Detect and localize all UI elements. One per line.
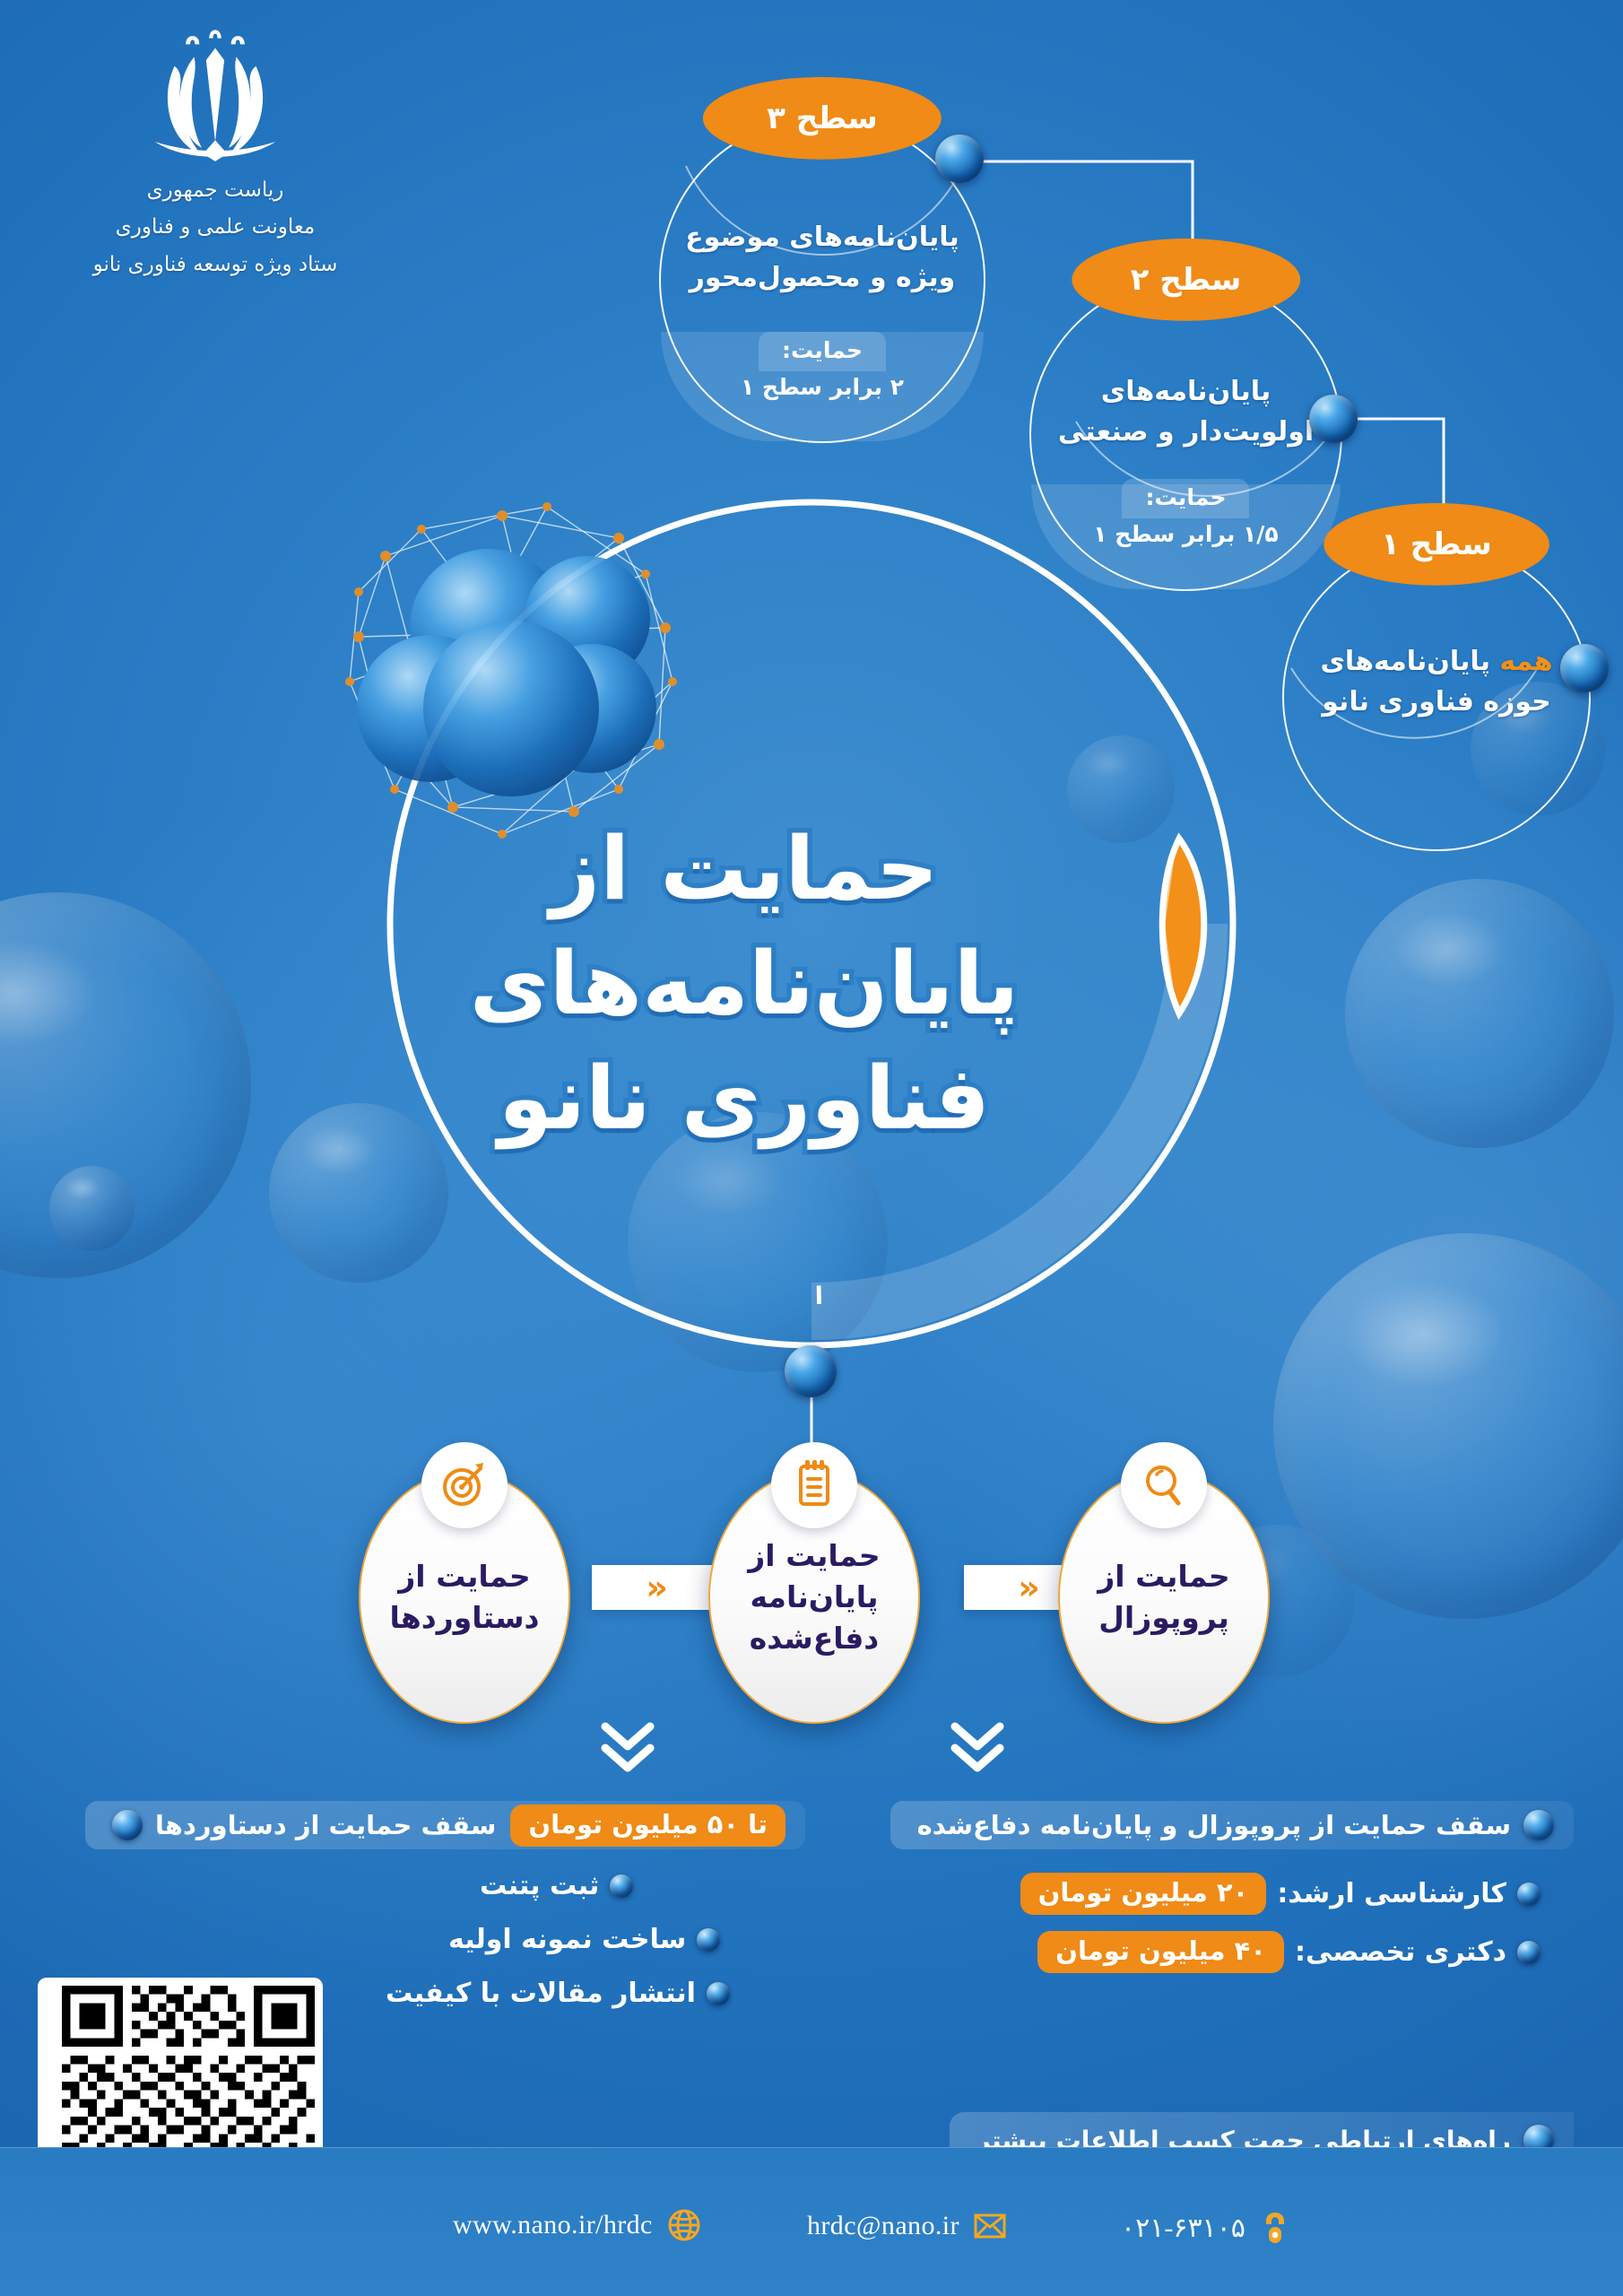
double-chevron-down-icon-left <box>596 1718 659 1782</box>
level-3-support-label: حمایت: <box>759 332 886 371</box>
bullet-marble-icon <box>1517 1883 1541 1906</box>
stage-achievements[interactable]: حمایت از دستاوردها <box>359 1471 570 1724</box>
level-2-text: پایان‌نامه‌های اولویت‌دار و صنعتی <box>1050 371 1323 452</box>
title-line-1: حمایت از <box>457 812 1031 926</box>
level-2-node <box>1309 395 1358 443</box>
caps-left-item-2-label: انتشار مقالات با کیفیت <box>386 1978 696 2009</box>
caps-left-item-2: انتشار مقالات با کیفیت <box>386 1978 730 2009</box>
org-line-2: معاونت علمی و فناوری <box>81 211 350 244</box>
level-3-support: حمایت: ۲ برابر سطح ۱ <box>699 332 945 404</box>
bullet-marble-icon <box>1517 1941 1541 1964</box>
phone-icon <box>1260 2211 1290 2245</box>
title-line-3: فناوری نانو <box>457 1041 1031 1156</box>
caps-right-row-0-label: کارشناسی ارشد: <box>1277 1878 1506 1909</box>
iran-emblem-icon <box>139 27 291 170</box>
background-bubble <box>0 892 251 1278</box>
magnifier-icon <box>1121 1442 1207 1528</box>
bullet-marble-icon <box>610 1874 633 1898</box>
level-1-node <box>1560 644 1609 692</box>
caps-right-row-1-amount: ۴۰ میلیون تومان <box>1037 1931 1284 1973</box>
caps-left-heading: سقف حمایت از دستاوردها <box>155 1810 496 1840</box>
level-2-badge: سطح ۲ <box>1072 239 1300 321</box>
stage-connector-left: « <box>592 1565 722 1610</box>
stage-proposal-label: حمایت از پروپوزال <box>1066 1556 1262 1639</box>
footer-email[interactable]: hrdc@nano.ir <box>807 2211 1006 2241</box>
bullet-marble-icon <box>697 1928 720 1952</box>
background-bubble <box>49 1166 135 1251</box>
background-bubble <box>1273 1233 1623 1619</box>
caps-left-item-0: ثبت پتنت <box>480 1870 633 1901</box>
stage-defended-thesis[interactable]: حمایت از پایان‌نامه دفاع‌شده <box>708 1471 920 1724</box>
caps-right-heading: سقف حمایت از پروپوزال و پایان‌نامه دفاع‌… <box>917 1810 1511 1840</box>
org-line-1: ریاست جمهوری <box>81 174 350 207</box>
chevron-left-icon: « <box>1018 1570 1040 1605</box>
page-title: حمایت از پایان‌نامه‌های فناوری نانو <box>457 812 1031 1156</box>
footer-website-text: www.nano.ir/hrdc <box>453 2210 653 2240</box>
level-2-circle: سطح ۲ پایان‌نامه‌های اولویت‌دار و صنعتی … <box>1029 278 1342 591</box>
footer-email-text: hrdc@nano.ir <box>807 2211 959 2241</box>
caps-right-row-0: کارشناسی ارشد: ۲۰ میلیون تومان <box>1020 1873 1541 1915</box>
caps-left-item-0-label: ثبت پتنت <box>480 1870 599 1901</box>
envelope-icon <box>974 2213 1006 2239</box>
footer-phone-text: ۰۲۱-۶۳۱۰۵ <box>1121 2213 1245 2244</box>
ring-marker-leaf <box>1162 839 1204 1013</box>
level-1-highlight: همه <box>1499 646 1552 677</box>
poster-canvas: ریاست جمهوری معاونت علمی و فناوری ستاد و… <box>0 0 1623 2296</box>
bullet-marble-icon <box>112 1810 143 1840</box>
caps-left-heading-bar: تا ۵۰ میلیون تومان سقف حمایت از دستاورده… <box>85 1801 805 1849</box>
footer-phone[interactable]: ۰۲۱-۶۳۱۰۵ <box>1121 2211 1290 2245</box>
level-2-support-value: ۱/۵ برابر سطح ۱ <box>1093 521 1278 547</box>
chevron-left-icon: « <box>646 1570 668 1605</box>
level-3-badge: سطح ۳ <box>703 77 942 160</box>
background-bubble <box>1345 879 1614 1148</box>
level-1-circle: سطح ۱ همه پایان‌نامه‌های حوزه فناوری نان… <box>1282 543 1591 851</box>
notepad-icon <box>771 1442 857 1528</box>
level-3-support-value: ۲ برابر سطح ۱ <box>741 374 904 400</box>
stage-proposal[interactable]: حمایت از پروپوزال <box>1058 1471 1270 1724</box>
caps-right-row-0-amount: ۲۰ میلیون تومان <box>1020 1873 1267 1915</box>
target-icon <box>421 1442 508 1528</box>
caps-right-row-1-label: دکتری تخصصی: <box>1295 1936 1506 1968</box>
level-1-text: همه پایان‌نامه‌های حوزه فناوری نانو <box>1302 641 1570 722</box>
double-chevron-down-icon-right <box>946 1718 1009 1782</box>
stage-defended-thesis-label: حمایت از پایان‌نامه دفاع‌شده <box>716 1535 912 1660</box>
footer-website[interactable]: www.nano.ir/hrdc <box>453 2208 701 2242</box>
title-line-2: پایان‌نامه‌های <box>457 926 1031 1041</box>
stage-achievements-label: حمایت از دستاوردها <box>367 1556 562 1639</box>
caps-right-row-1: دکتری تخصصی: ۴۰ میلیون تومان <box>1037 1931 1541 1973</box>
bullet-marble-icon <box>707 1982 730 2005</box>
globe-icon <box>667 2208 701 2242</box>
background-bubble <box>269 1103 448 1283</box>
level-3-text: پایان‌نامه‌های موضوع ویژه و محصول‌محور <box>681 217 965 298</box>
nanoparticle-mesh <box>345 502 677 839</box>
organization-logo-block: ریاست جمهوری معاونت علمی و فناوری ستاد و… <box>81 27 350 282</box>
caps-left-item-1: ساخت نمونه اولیه <box>448 1924 720 1955</box>
main-ring-node <box>785 1345 837 1397</box>
caps-left-amount: تا ۵۰ میلیون تومان <box>510 1805 785 1847</box>
level-1-badge: سطح ۱ <box>1324 503 1549 586</box>
caps-left-item-1-label: ساخت نمونه اولیه <box>448 1924 686 1955</box>
background-bubble <box>1067 735 1175 843</box>
level-2-support: حمایت: ۱/۵ برابر سطح ۱ <box>1068 479 1303 552</box>
level-3-node <box>935 135 984 183</box>
org-line-3: ستاد ویژه توسعه فناوری نانو <box>81 248 350 282</box>
level-2-support-label: حمایت: <box>1122 479 1249 518</box>
caps-right-heading-bar: سقف حمایت از پروپوزال و پایان‌نامه دفاع‌… <box>890 1801 1574 1849</box>
bullet-marble-icon <box>1523 1810 1554 1840</box>
